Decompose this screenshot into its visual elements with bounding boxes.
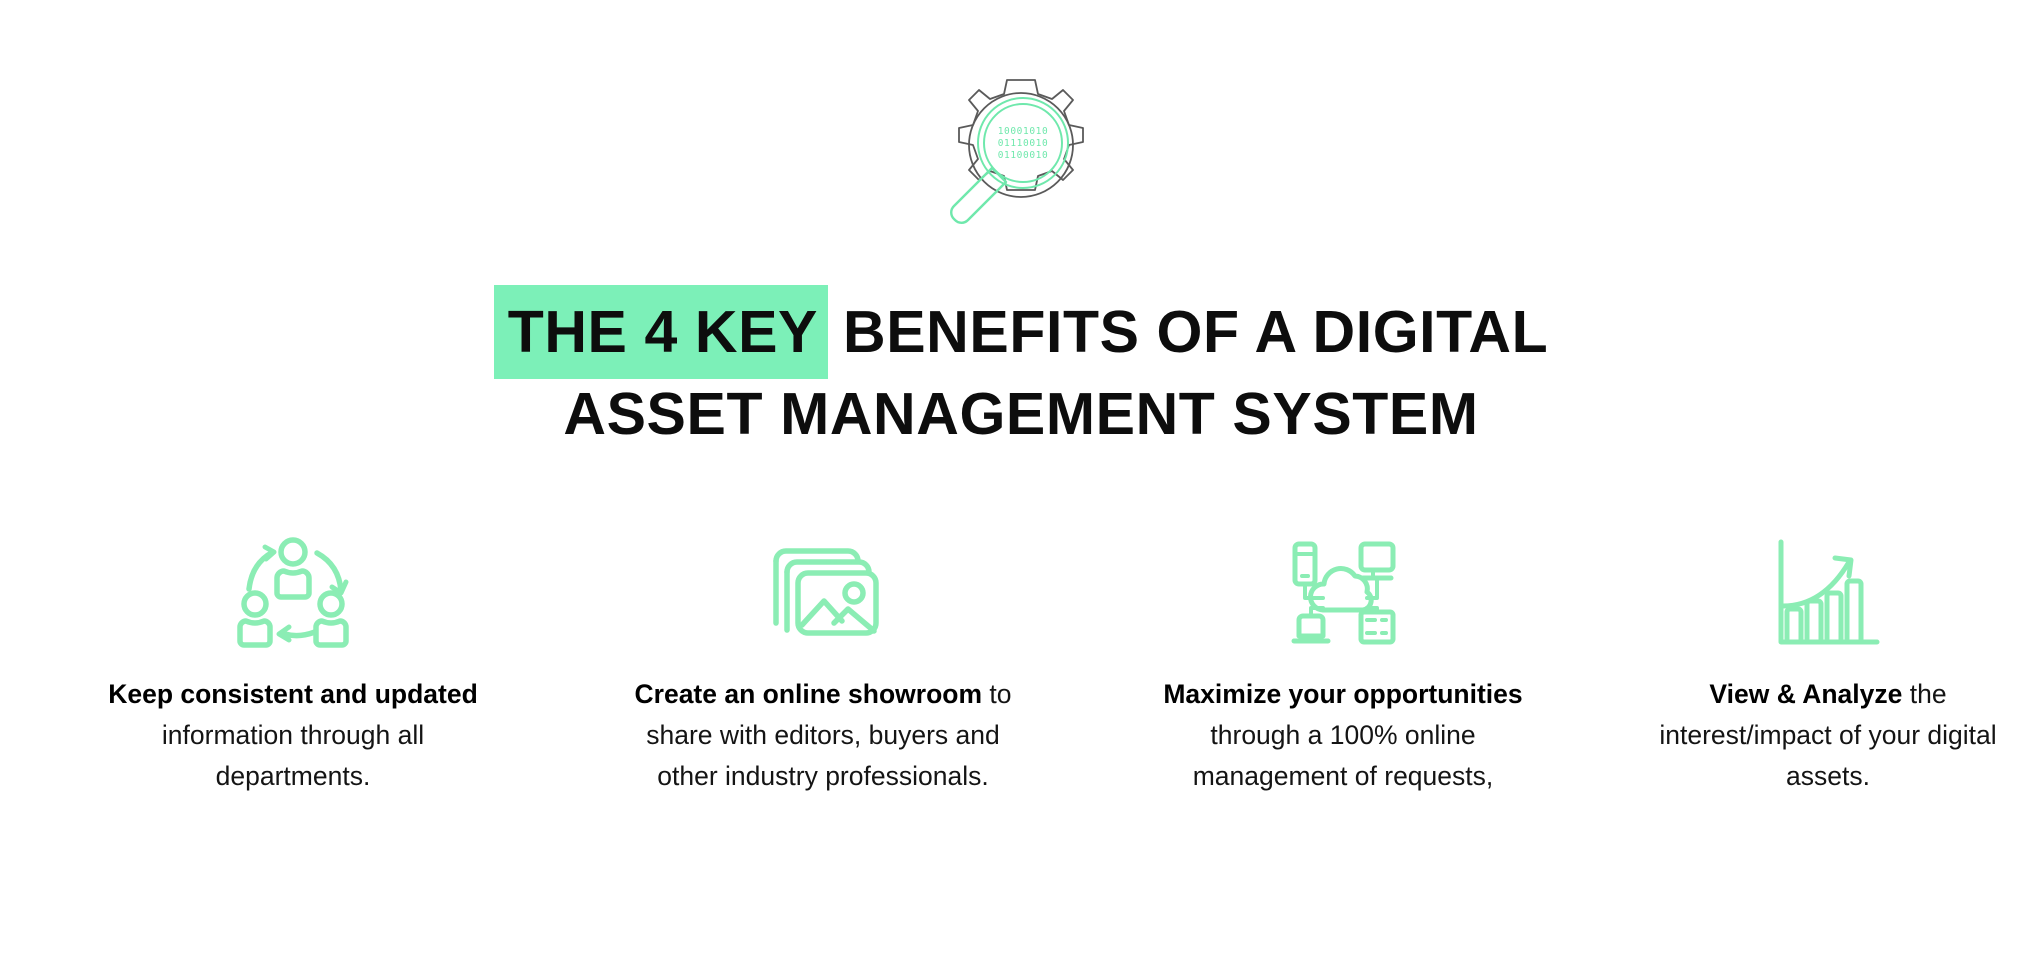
svg-text:01100010: 01100010 — [998, 150, 1049, 161]
benefit-lead-3: Maximize your opportunities — [1163, 679, 1522, 709]
benefit-text-2: Create an online showroom to share with … — [613, 674, 1033, 797]
page-title: THE 4 KEY BENEFITS OF A DIGITAL ASSET MA… — [0, 292, 2042, 455]
title-line-1-rest: BENEFITS OF A DIGITAL — [826, 299, 1548, 365]
benefit-lead-2: Create an online showroom — [635, 679, 983, 709]
benefit-body-3: through a 100% online management of requ… — [1193, 720, 1494, 791]
benefits-row: Keep consistent and updated information … — [0, 525, 2042, 885]
growth-chart-icon — [1618, 525, 2038, 660]
benefit-item-1: Keep consistent and updated information … — [83, 525, 503, 797]
benefit-item-3: Maximize your opportunities through a 10… — [1133, 525, 1553, 797]
benefit-lead-4: View & Analyze — [1709, 679, 1902, 709]
people-network-icon — [83, 525, 503, 660]
title-line-2: ASSET MANAGEMENT SYSTEM — [0, 374, 2042, 455]
svg-text:10001010: 10001010 — [998, 126, 1049, 137]
benefit-item-2: Create an online showroom to share with … — [613, 525, 1033, 797]
title-line-1: THE 4 KEY BENEFITS OF A DIGITAL — [0, 292, 2042, 373]
benefit-lead-1: Keep consistent and updated — [108, 679, 478, 709]
benefit-text-3: Maximize your opportunities through a 10… — [1133, 674, 1553, 797]
benefit-item-4: View & Analyze the interest/impact of yo… — [1618, 525, 2038, 797]
image-gallery-icon — [613, 525, 1033, 660]
benefit-body-1: information through all departments. — [162, 720, 424, 791]
title-highlight: THE 4 KEY — [494, 285, 828, 379]
cloud-devices-icon — [1133, 525, 1553, 660]
svg-text:01110010: 01110010 — [998, 138, 1049, 149]
benefit-text-1: Keep consistent and updated information … — [83, 674, 503, 797]
benefit-text-4: View & Analyze the interest/impact of yo… — [1618, 674, 2038, 797]
infographic-page: 10001010 01110010 01100010 THE 4 KEY BEN… — [0, 0, 2042, 954]
gear-magnifier-binary-icon: 10001010 01110010 01100010 — [921, 60, 1121, 230]
binary-digits: 10001010 01110010 01100010 — [998, 126, 1049, 161]
